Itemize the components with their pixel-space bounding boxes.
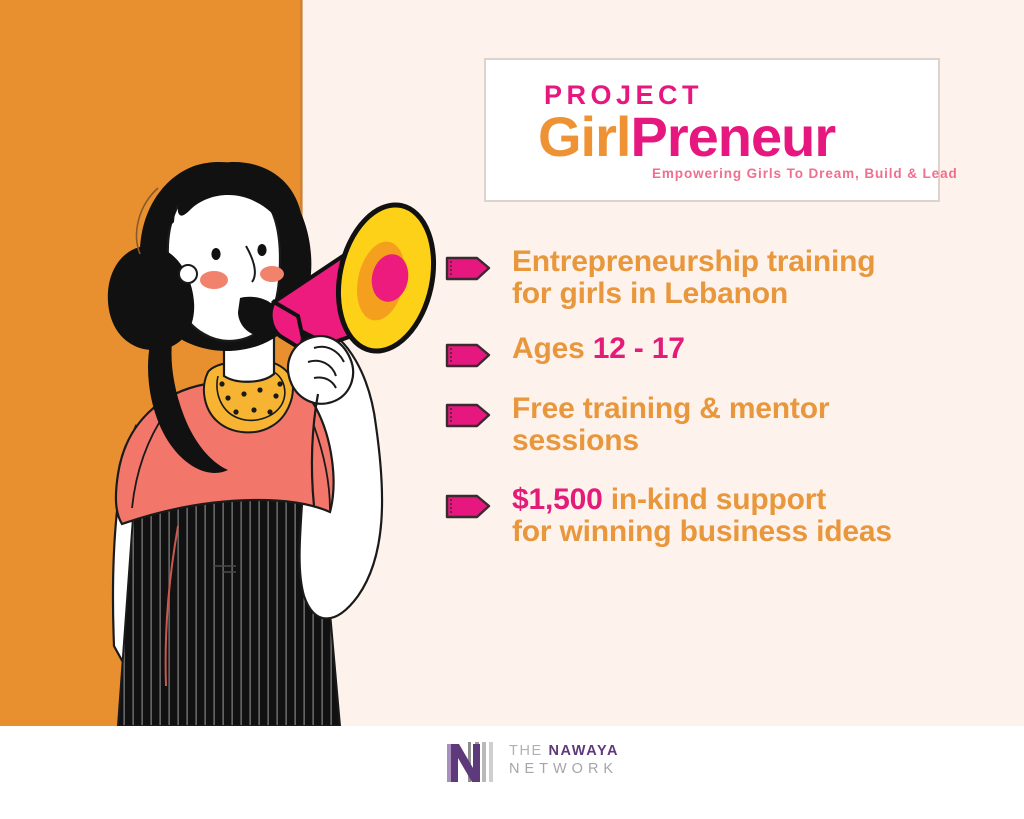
list-item: $1,500 in-kind support for winning busin… [444, 484, 1004, 549]
list-item: Entrepreneurship training for girls in L… [444, 246, 1004, 311]
bullet-line-1: Free training & mentor [512, 392, 829, 425]
bullet-highlight: 12 - 17 [593, 332, 685, 365]
project-girlpreneur-logo-card: PROJECT GirlPreneur Empowering Girls To … [484, 58, 940, 202]
nawaya-network-footer-logo: THE NAWAYA NETWORK [447, 738, 597, 786]
pink-tag-arrow-icon [444, 401, 492, 429]
footer-network-word: NETWORK [509, 761, 618, 777]
logo-word-girl: Girl [538, 105, 630, 168]
footer-logo-text: THE NAWAYA NETWORK [509, 742, 619, 778]
bullet-text: Ages 12 - 17 [512, 333, 685, 365]
bullet-text: Entrepreneurship training for girls in L… [512, 246, 875, 311]
footer-the-word: THE [509, 743, 543, 759]
footer-nawaya-word: NAWAYA [548, 743, 619, 759]
bullet-line-1: in-kind support [603, 483, 826, 516]
bullet-highlight: $1,500 [512, 483, 603, 516]
bullet-line-1: Ages [512, 332, 593, 365]
bullet-line-2: for winning business ideas [512, 515, 892, 548]
pink-tag-arrow-icon [444, 492, 492, 520]
logo-wordmark: GirlPreneur [538, 104, 835, 169]
list-item: Free training & mentor sessions [444, 393, 1004, 458]
bullet-text: Free training & mentor sessions [512, 393, 829, 458]
list-item: Ages 12 - 17 [444, 333, 1004, 369]
bullet-text: $1,500 in-kind support for winning busin… [512, 484, 892, 549]
woman-with-megaphone-illustration [18, 126, 438, 726]
bullet-line-2: for girls in Lebanon [512, 277, 788, 310]
feature-bullet-list: Entrepreneurship training for girls in L… [444, 246, 1004, 568]
bullet-line-1: Entrepreneurship training [512, 245, 875, 278]
pink-tag-arrow-icon [444, 254, 492, 282]
footer-logo-line-1: THE NAWAYA [509, 743, 619, 759]
bullet-line-2: sessions [512, 424, 639, 457]
logo-tagline: Empowering Girls To Dream, Build & Lead [652, 166, 958, 181]
pink-tag-arrow-icon [444, 341, 492, 369]
logo-word-preneur: Preneur [630, 105, 835, 168]
poster-canvas: PROJECT GirlPreneur Empowering Girls To … [0, 0, 1024, 819]
nawaya-n-mark-icon [447, 740, 505, 784]
